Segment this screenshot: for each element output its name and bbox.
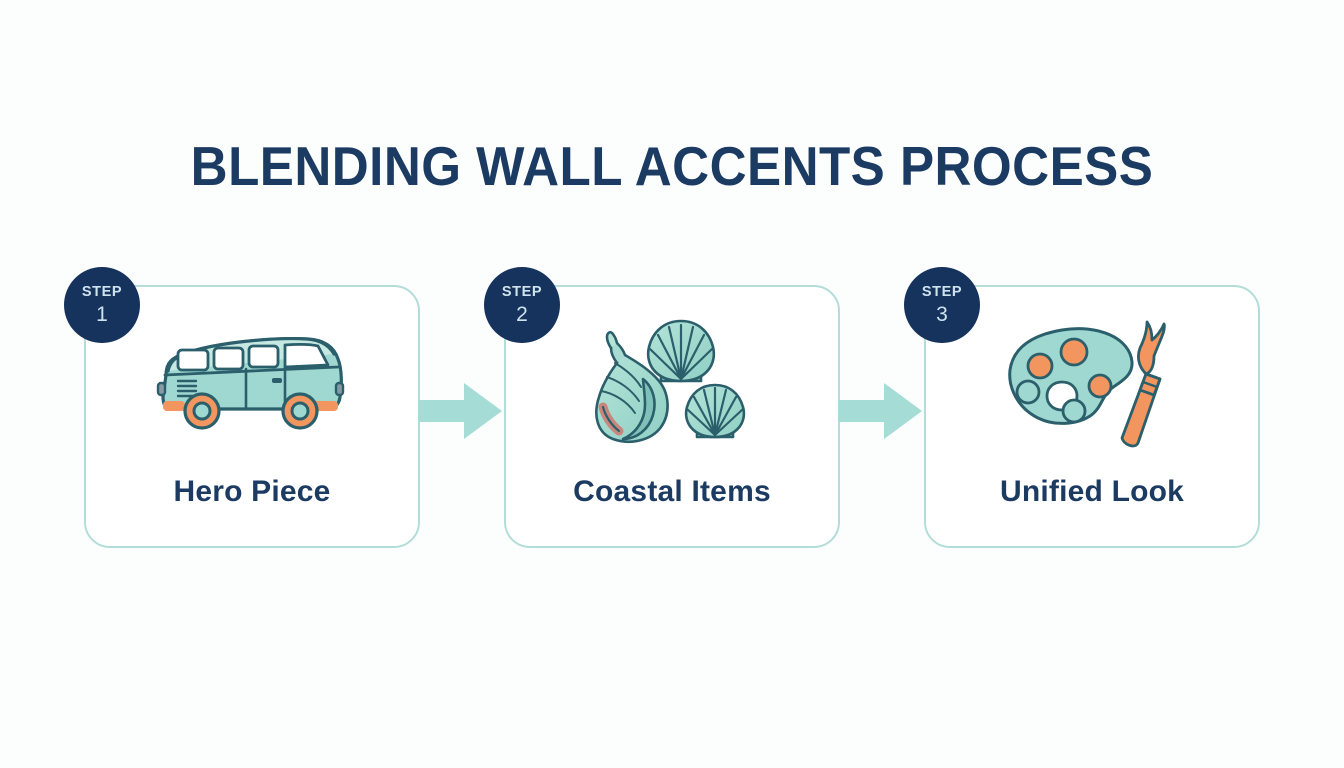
arrow-right-1: [418, 383, 502, 439]
step-label-1: Hero Piece: [86, 475, 418, 509]
step-badge-word-3: STEP: [922, 285, 962, 300]
step-card-1[interactable]: STEP 1: [84, 285, 420, 548]
step-card-2[interactable]: STEP 2: [504, 285, 840, 548]
camper-van-icon: [86, 313, 418, 453]
arrow-right-2: [838, 383, 922, 439]
step-badge-3: STEP 3: [904, 267, 980, 343]
step-badge-number-3: 3: [936, 304, 948, 325]
step-label-2: Coastal Items: [506, 475, 838, 509]
process-steps-row: STEP 1: [0, 285, 1344, 550]
seashells-icon: [506, 313, 838, 453]
step-badge-word-1: STEP: [82, 285, 122, 300]
paint-palette-icon: [926, 313, 1258, 453]
step-badge-number-2: 2: [516, 304, 528, 325]
step-label-3: Unified Look: [926, 475, 1258, 509]
step-badge-2: STEP 2: [484, 267, 560, 343]
infographic-canvas: BLENDING WALL ACCENTS PROCESS STEP 1: [0, 0, 1344, 768]
page-title: BLENDING WALL ACCENTS PROCESS: [47, 134, 1297, 198]
step-badge-1: STEP 1: [64, 267, 140, 343]
step-badge-number-1: 1: [96, 304, 108, 325]
step-card-3[interactable]: STEP 3: [924, 285, 1260, 548]
step-badge-word-2: STEP: [502, 285, 542, 300]
